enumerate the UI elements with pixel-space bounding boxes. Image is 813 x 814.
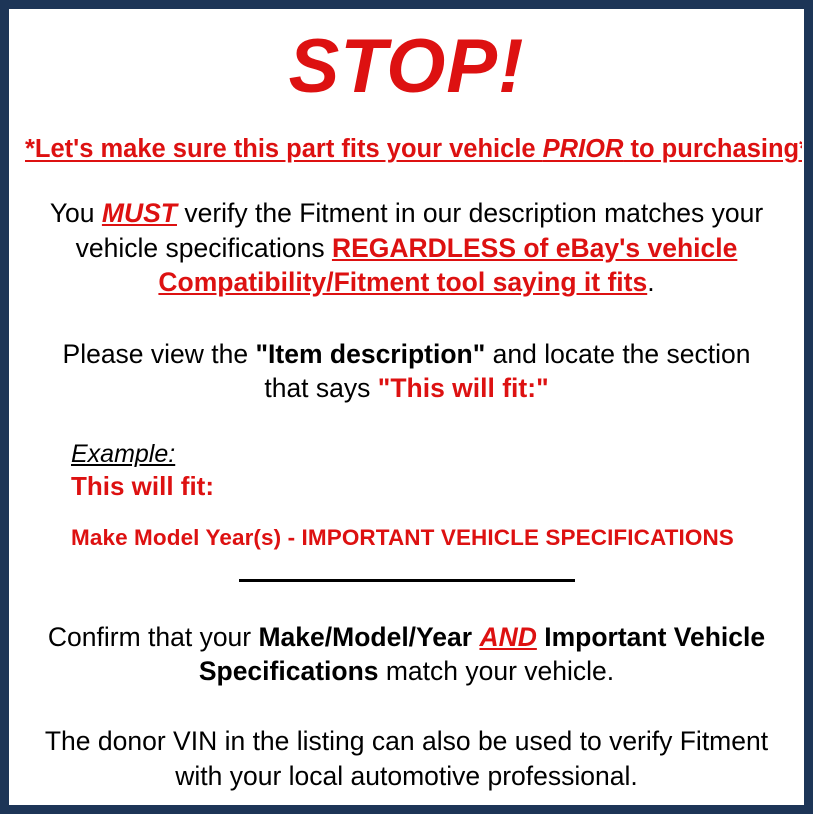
- confirm-paragraph: Confirm that your Make/Model/Year AND Im…: [37, 620, 776, 689]
- must-text-1: You: [50, 198, 102, 228]
- item-description-emphasis: "Item description": [255, 339, 485, 369]
- example-spec-line: Make Model Year(s) - IMPORTANT VEHICLE S…: [71, 524, 788, 551]
- must-verify-paragraph: You MUST verify the Fitment in our descr…: [35, 196, 778, 299]
- make-model-year-emphasis: Make/Model/Year: [258, 622, 472, 652]
- fitment-notice-frame: STOP! *Let's make sure this part fits yo…: [0, 0, 813, 814]
- divider-wrapper: [25, 572, 788, 590]
- view-description-paragraph: Please view the "Item description" and l…: [43, 337, 770, 406]
- tagline-text-after: to purchasing*: [623, 135, 804, 163]
- tagline-emphasis-prior: PRIOR: [543, 135, 624, 163]
- and-emphasis: AND: [479, 622, 536, 652]
- confirm-text-4: match your vehicle.: [379, 656, 615, 686]
- donor-vin-paragraph: The donor VIN in the listing can also be…: [33, 724, 780, 793]
- must-emphasis: MUST: [102, 198, 177, 228]
- section-divider: [239, 579, 575, 582]
- example-fit-heading: This will fit:: [71, 470, 788, 503]
- fitment-notice-body: STOP! *Let's make sure this part fits yo…: [9, 9, 804, 805]
- example-label: Example:: [71, 440, 788, 470]
- tagline: *Let's make sure this part fits your veh…: [25, 135, 788, 164]
- tagline-text-before: *Let's make sure this part fits your veh…: [25, 135, 543, 163]
- example-block: Example: This will fit: Make Model Year(…: [25, 440, 788, 551]
- view-text-1: Please view the: [63, 339, 256, 369]
- confirm-text-1: Confirm that your: [48, 622, 259, 652]
- this-will-fit-emphasis: "This will fit:": [378, 373, 549, 403]
- must-text-3: .: [647, 267, 654, 297]
- page-title: STOP!: [25, 29, 788, 105]
